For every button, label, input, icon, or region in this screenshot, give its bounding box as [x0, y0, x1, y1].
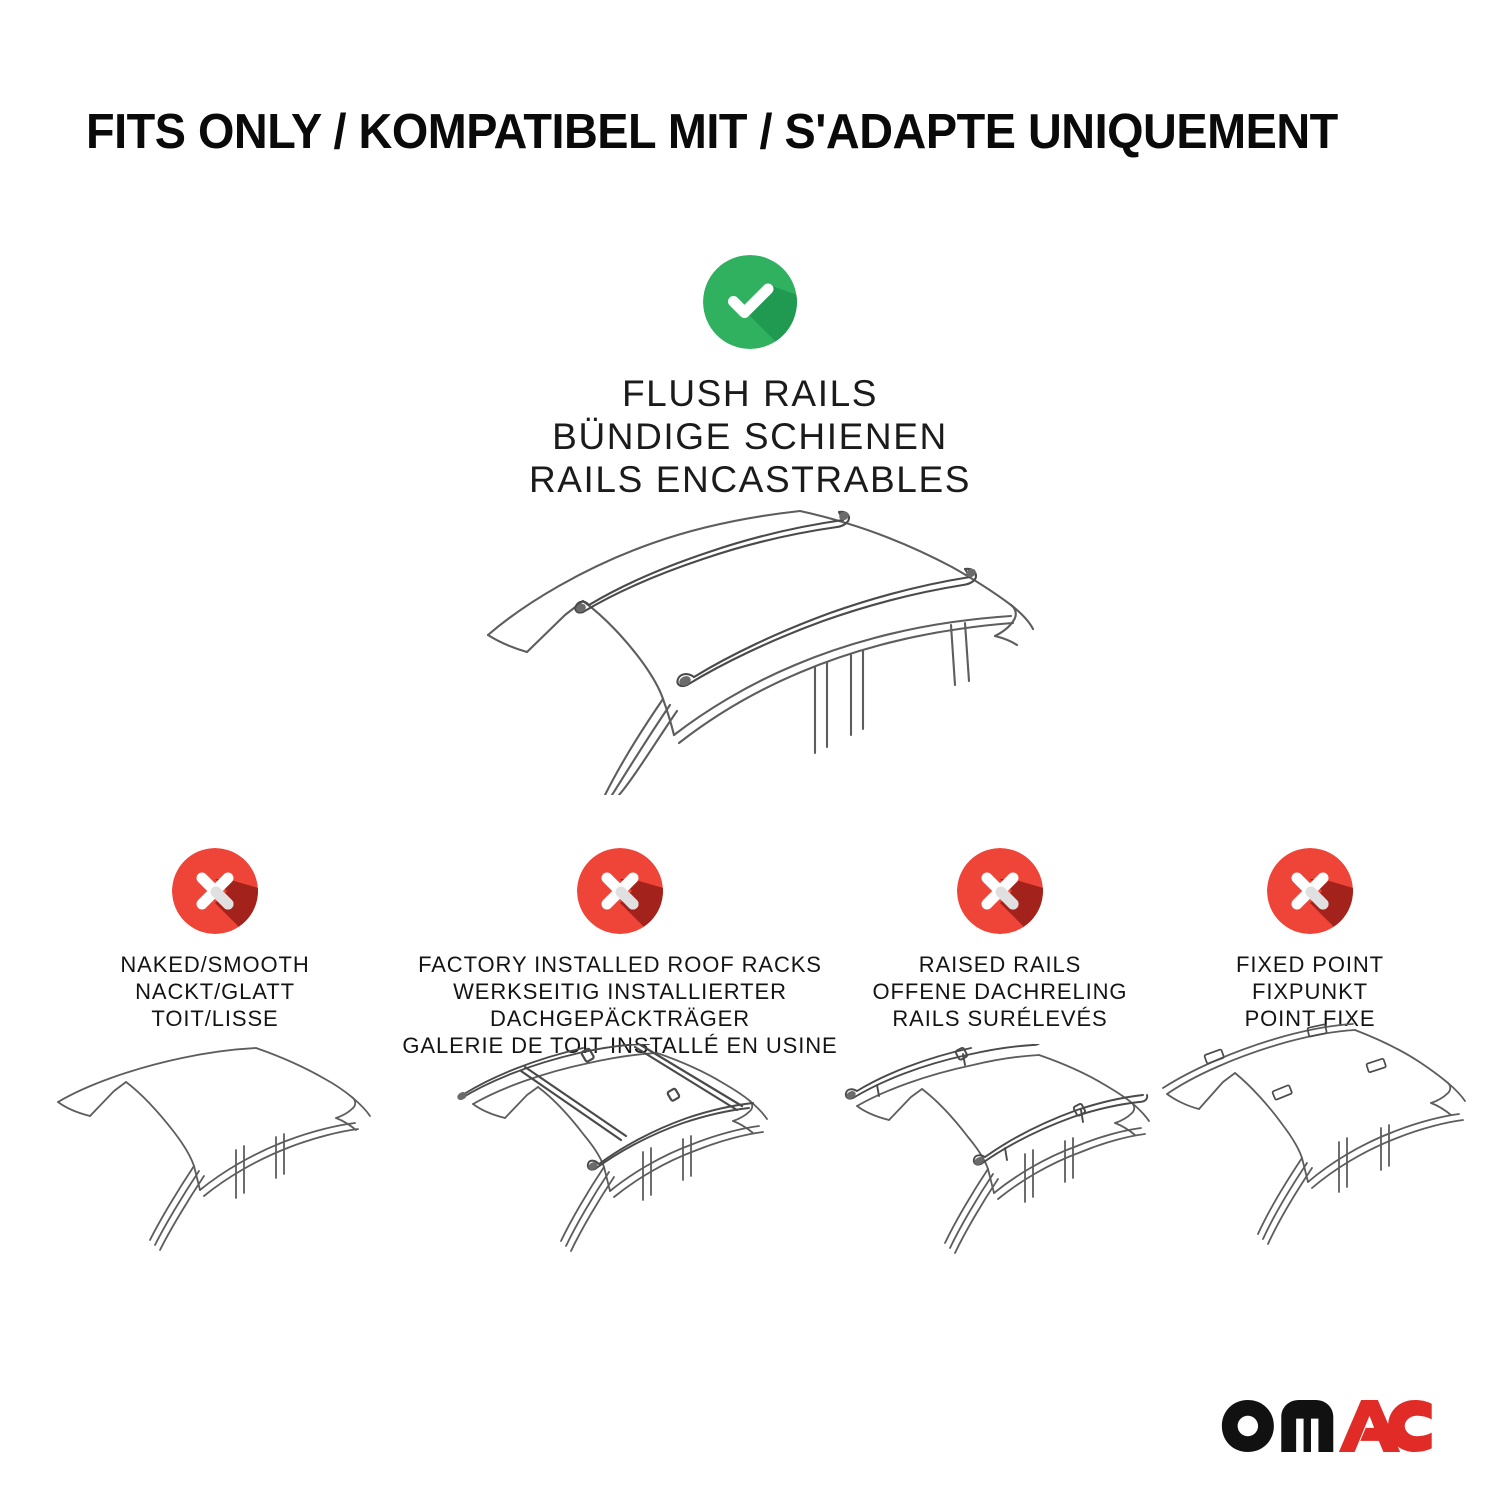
x-circle-icon: [1267, 848, 1353, 934]
incompatible-label-en: FACTORY INSTALLED ROOF RACKS: [400, 951, 840, 978]
car-roof-with-raised-rails-illustration: [835, 1044, 1165, 1254]
incompatible-item-factory-roof-racks: FACTORY INSTALLED ROOF RACKS WERKSEITIG …: [400, 848, 840, 1059]
infographic-root: FITS ONLY / KOMPATIBEL MIT / S'ADAPTE UN…: [0, 0, 1500, 1500]
compatible-section: FLUSH RAILS BÜNDIGE SCHIENEN RAILS ENCAS…: [0, 255, 1500, 501]
x-circle-icon: [577, 848, 663, 934]
incompatible-section: NAKED/SMOOTH NACKT/GLATT TOIT/LISSE: [0, 848, 1500, 1318]
incompatible-label-de: NACKT/GLATT: [65, 978, 365, 1005]
incompatible-label-de: FIXPUNKT: [1185, 978, 1435, 1005]
compatible-label-en: FLUSH RAILS: [0, 372, 1500, 415]
incompatible-item-naked-smooth: NAKED/SMOOTH NACKT/GLATT TOIT/LISSE: [65, 848, 365, 1032]
incompatible-labels: NAKED/SMOOTH NACKT/GLATT TOIT/LISSE: [65, 951, 365, 1032]
incompatible-item-raised-rails: RAISED RAILS OFFENE DACHRELING RAILS SUR…: [840, 848, 1160, 1032]
car-roof-with-flush-rails-illustration: [455, 495, 1055, 795]
incompatible-label-fr: RAILS SURÉLEVÉS: [840, 1005, 1160, 1032]
x-circle-icon: [172, 848, 258, 934]
incompatible-label-de-1: WERKSEITIG INSTALLIERTER: [400, 978, 840, 1005]
incompatible-labels: FACTORY INSTALLED ROOF RACKS WERKSEITIG …: [400, 951, 840, 1059]
car-roof-bare-illustration: [50, 1044, 380, 1254]
car-roof-with-factory-crossbars-illustration: [455, 1044, 785, 1254]
incompatible-label-de: OFFENE DACHRELING: [840, 978, 1160, 1005]
check-circle-icon: [703, 255, 797, 349]
car-roof-with-fixed-points-illustration: [1145, 1018, 1475, 1248]
compatible-labels: FLUSH RAILS BÜNDIGE SCHIENEN RAILS ENCAS…: [0, 372, 1500, 501]
incompatible-labels: RAISED RAILS OFFENE DACHRELING RAILS SUR…: [840, 951, 1160, 1032]
incompatible-label-fr: TOIT/LISSE: [65, 1005, 365, 1032]
incompatible-label-en: FIXED POINT: [1185, 951, 1435, 978]
page-title: FITS ONLY / KOMPATIBEL MIT / S'ADAPTE UN…: [86, 108, 1366, 157]
incompatible-item-fixed-point: FIXED POINT FIXPUNKT POINT FIXE: [1185, 848, 1435, 1032]
incompatible-label-en: NAKED/SMOOTH: [65, 951, 365, 978]
incompatible-label-de-2: DACHGEPÄCKTRÄGER: [400, 1005, 840, 1032]
incompatible-label-en: RAISED RAILS: [840, 951, 1160, 978]
omac-logo: [1220, 1400, 1434, 1452]
compatible-label-de: BÜNDIGE SCHIENEN: [0, 415, 1500, 458]
x-circle-icon: [957, 848, 1043, 934]
